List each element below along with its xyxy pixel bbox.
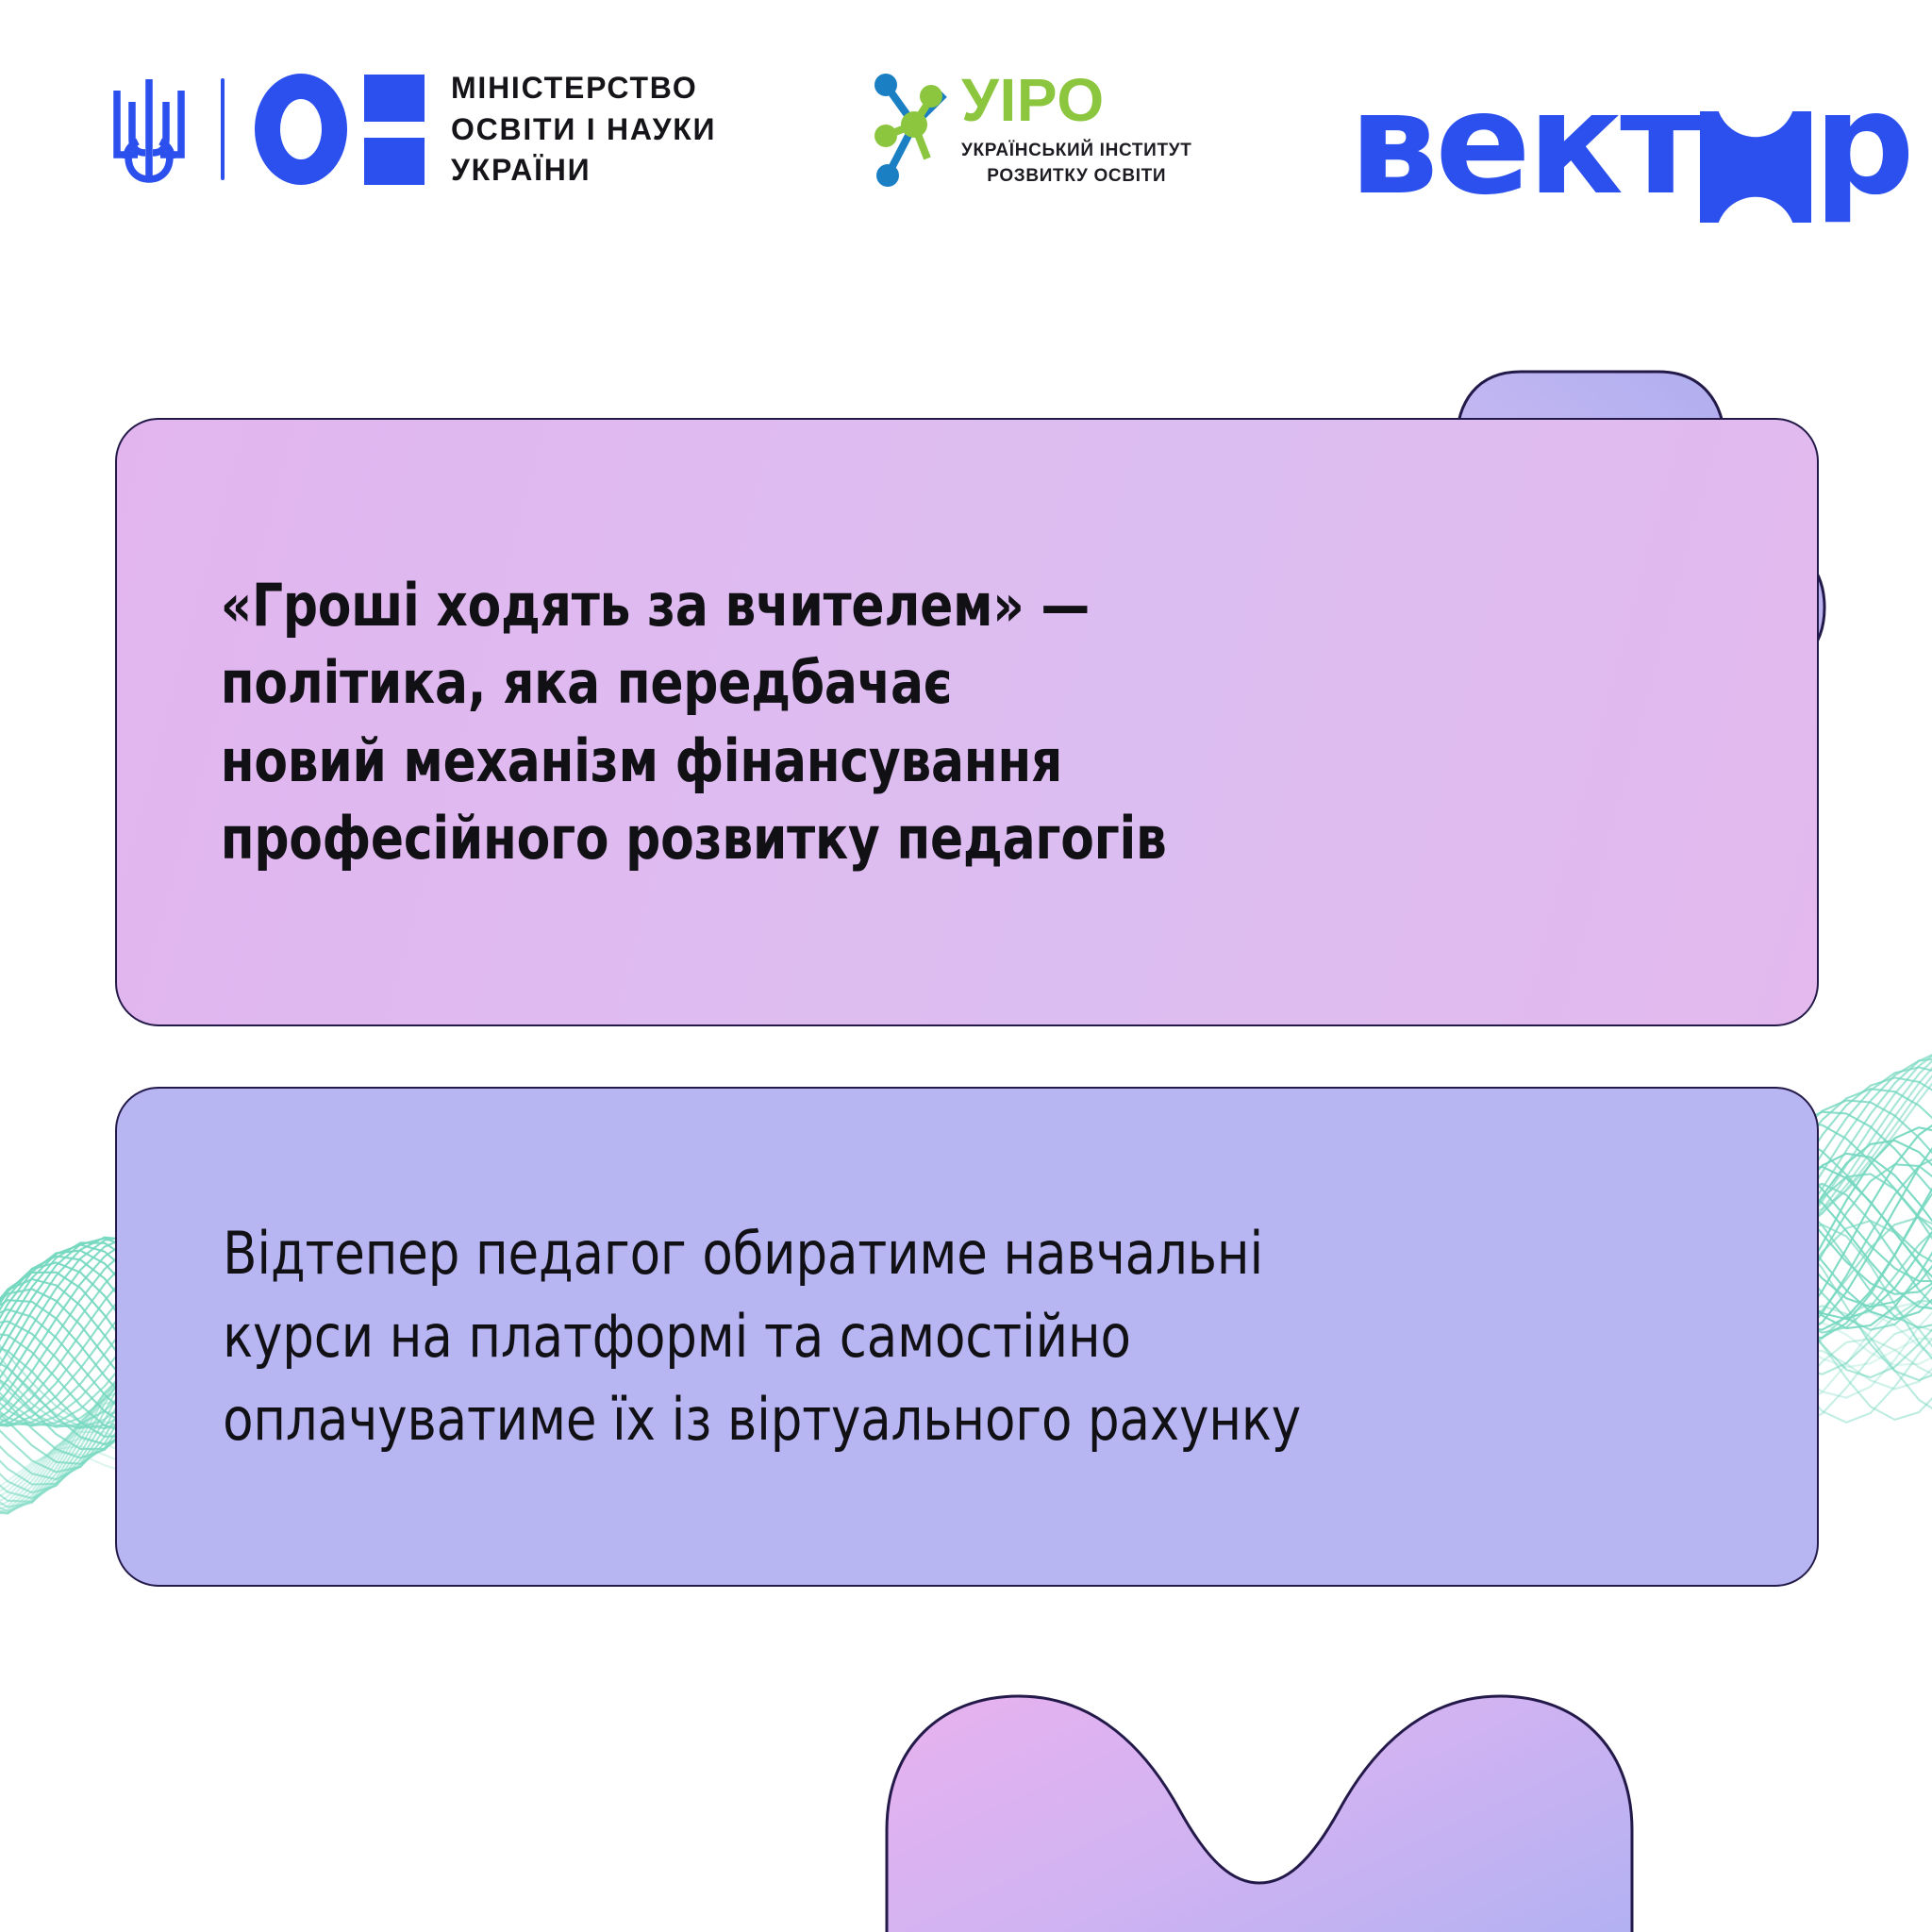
logo-bar: МІНІСТЕРСТВО ОСВІТИ І НАУКИ УКРАЇНИ [0, 0, 1932, 255]
ministry-logo-text: МІНІСТЕРСТВО ОСВІТИ І НАУКИ УКРАЇНИ [451, 68, 716, 192]
vektor-o-dot-icon [1700, 111, 1811, 223]
vektor-text-after: р [1813, 74, 1911, 215]
body-paragraph: Відтепер педагог обиратиме навчальні кур… [117, 1212, 1301, 1461]
logo-vektor: вект р [1349, 74, 1911, 215]
logo-divider [221, 78, 225, 180]
mon-circle-icon [255, 74, 347, 185]
logo-ministry-of-education: МІНІСТЕРСТВО ОСВІТИ І НАУКИ УКРАЇНИ [106, 68, 716, 192]
ukraine-trident-icon [106, 74, 192, 185]
poster-canvas: «Гроші ходять за вчителем» — політика, я… [0, 0, 1932, 1932]
vektor-text-before: вект [1349, 74, 1698, 215]
uiro-subtitle: УКРАЇНСЬКИЙ ІНСТИТУТ РОЗВИТКУ ОСВІТИ [961, 139, 1192, 190]
headline-card: «Гроші ходять за вчителем» — політика, я… [115, 418, 1819, 1026]
double-lobe-blob-shape [877, 1689, 1641, 1932]
mon-circle-squares-icon [255, 74, 425, 185]
mon-squares-icon [364, 75, 425, 185]
logo-uiro: УІРО УКРАЇНСЬКИЙ ІНСТИТУТ РОЗВИТКУ ОСВІТ… [873, 72, 1192, 190]
uiro-title: УІРО [961, 72, 1192, 129]
uiro-network-nodes-icon [873, 72, 950, 189]
body-card: Відтепер педагог обиратиме навчальні кур… [115, 1087, 1819, 1587]
page-title: «Гроші ходять за вчителем» — політика, я… [117, 567, 1167, 878]
